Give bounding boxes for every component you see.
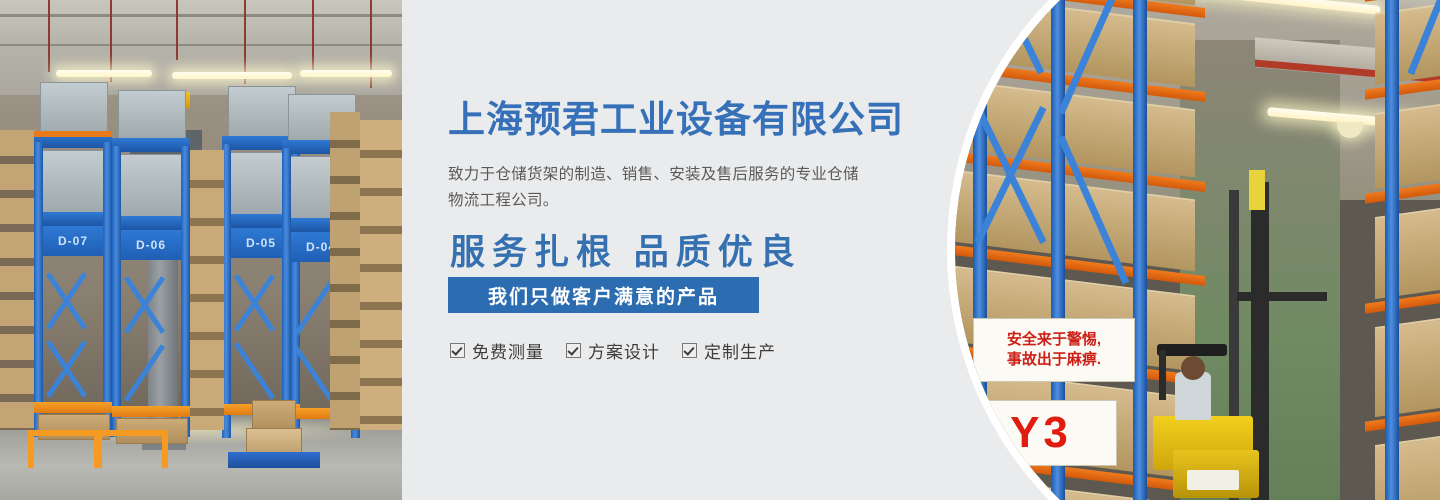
rack-row-right bbox=[1315, 0, 1440, 500]
cta-button[interactable]: 我们只做客户满意的产品 bbox=[448, 277, 759, 313]
subtitle: 致力于仓储货架的制造、销售、安装及售后服务的专业仓储物流工程公司。 bbox=[448, 162, 868, 214]
forklift-post bbox=[1159, 350, 1166, 400]
rack-upright bbox=[1385, 0, 1399, 500]
rack-brace bbox=[294, 278, 335, 336]
blue-pallet bbox=[228, 452, 320, 468]
rack-d06: D-06 bbox=[112, 90, 190, 437]
forklift bbox=[1193, 300, 1323, 500]
ceiling-hanger bbox=[48, 0, 50, 72]
ceiling-beam bbox=[0, 44, 402, 46]
rack-upright bbox=[181, 146, 190, 437]
forklift-mast-top bbox=[1249, 170, 1265, 210]
rack-label: D-07 bbox=[34, 226, 112, 256]
rack-upright bbox=[112, 146, 121, 437]
right-warehouse-photo-wrapper: 安全来于警惕, 事故出于麻痹. Y3 Y3 bbox=[947, 0, 1440, 500]
safety-sign: 安全来于警惕, 事故出于麻痹. bbox=[973, 318, 1135, 382]
rack-upright bbox=[34, 142, 43, 437]
rack-beam bbox=[34, 402, 112, 413]
rack-guard bbox=[96, 430, 168, 468]
tote bbox=[118, 90, 186, 140]
checkbox-checked-icon bbox=[682, 343, 697, 358]
checkbox-checked-icon bbox=[450, 343, 465, 358]
ceiling-light bbox=[56, 70, 152, 77]
rack-beam bbox=[112, 138, 190, 152]
aisle-label-sign: Y3 bbox=[965, 400, 1117, 466]
tote bbox=[40, 150, 108, 214]
slogan: 服务扎根 品质优良 bbox=[450, 224, 802, 275]
feature-label: 免费测量 bbox=[472, 338, 544, 363]
rack-label: D-06 bbox=[112, 230, 190, 260]
rack-beam bbox=[112, 406, 190, 417]
safety-sign-line-1: 安全来于警惕, bbox=[1007, 330, 1101, 350]
forklift-crossbar bbox=[1237, 292, 1327, 301]
pallet-stack bbox=[356, 120, 402, 430]
feature-item: 方案设计 bbox=[566, 338, 660, 363]
right-warehouse-photo: 安全来于警惕, 事故出于麻痹. Y3 Y3 bbox=[955, 0, 1440, 500]
hero-banner: D-07 D-06 bbox=[0, 0, 1440, 500]
rack-beam bbox=[1365, 0, 1440, 2]
feature-item: 免费测量 bbox=[450, 338, 544, 363]
ceiling-hanger bbox=[312, 0, 314, 70]
side-rack-pallets bbox=[0, 130, 36, 430]
feature-item: 定制生产 bbox=[682, 338, 776, 363]
rack-guard bbox=[28, 430, 100, 468]
rack-upright bbox=[282, 148, 291, 438]
rack-upright bbox=[1133, 0, 1147, 500]
feature-label: 定制生产 bbox=[704, 338, 776, 363]
forklift-overhead-guard bbox=[1157, 344, 1227, 356]
feature-list: 免费测量 方案设计 定制生产 bbox=[450, 338, 776, 363]
rack-beam bbox=[34, 212, 112, 226]
ceiling-light bbox=[300, 70, 392, 77]
checkbox-checked-icon bbox=[566, 343, 581, 358]
rack-d07: D-07 bbox=[34, 82, 112, 437]
rack-upright bbox=[103, 142, 112, 437]
tote bbox=[118, 154, 186, 218]
rack-beam bbox=[34, 131, 112, 137]
rack-brace bbox=[124, 344, 165, 402]
page-title: 上海预君工业设备有限公司 bbox=[448, 101, 904, 138]
left-warehouse-photo: D-07 D-06 bbox=[0, 0, 402, 500]
forklift-plate bbox=[1187, 470, 1239, 490]
photo-content: 安全来于警惕, 事故出于麻痹. Y3 Y3 bbox=[955, 0, 1440, 500]
rack-beam bbox=[112, 216, 190, 230]
feature-label: 方案设计 bbox=[588, 338, 660, 363]
ceiling-beam bbox=[0, 14, 402, 17]
pallet-stack bbox=[190, 150, 224, 430]
operator-head bbox=[1181, 356, 1205, 380]
ceiling-hanger bbox=[176, 0, 178, 60]
tote bbox=[40, 82, 108, 136]
safety-sign-line-2: 事故出于麻痹. bbox=[1007, 350, 1101, 370]
pallet-stack bbox=[330, 112, 360, 430]
rack-brace bbox=[294, 346, 335, 404]
ceiling-light bbox=[172, 72, 292, 79]
banner-text-panel: 上海预君工业设备有限公司 致力于仓储货架的制造、销售、安装及售后服务的专业仓储物… bbox=[402, 0, 1002, 500]
rack-brace bbox=[234, 342, 275, 400]
